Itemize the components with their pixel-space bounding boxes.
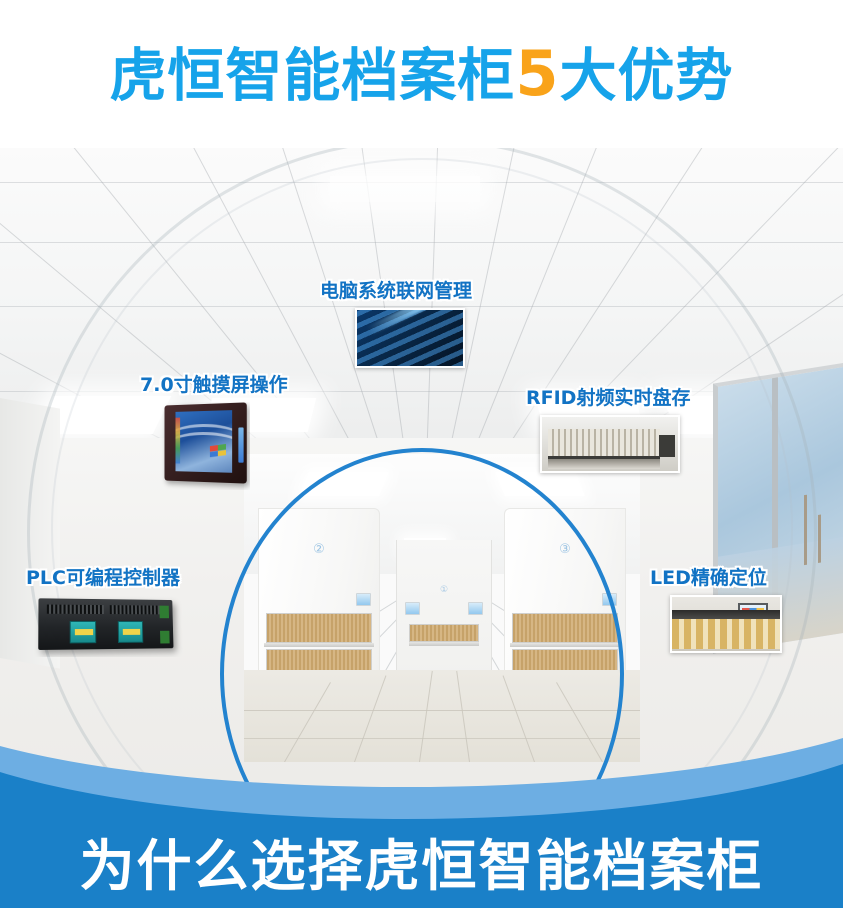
feature-label-led-positioning: LED精确定位 (650, 568, 782, 589)
feature-led-positioning[interactable]: LED精确定位 (650, 568, 782, 653)
page-title-band: 虎恒智能档案柜5大优势 (0, 0, 843, 148)
feature-plc-controller[interactable]: PLC可编程控制器 (26, 568, 184, 657)
feature-label-plc-controller: PLC可编程控制器 (26, 568, 184, 589)
cabinet-3-number: ③ (505, 541, 625, 557)
infographic-page: 虎恒智能档案柜5大优势 (0, 0, 843, 908)
archive-room-photo: ① ② ③ (244, 454, 640, 762)
thumb-keyboard-photo (355, 308, 465, 368)
page-title: 虎恒智能档案柜5大优势 (109, 43, 733, 105)
feature-label-rfid-inventory: RFID射频实时盘存 (526, 388, 690, 409)
feature-computer-network-management[interactable]: 电脑系统联网管理 (320, 281, 472, 368)
feature-label-touchscreen: 7.0寸触摸屏操作 (140, 375, 288, 396)
feature-rfid-inventory[interactable]: RFID射频实时盘存 (526, 388, 690, 473)
thumb-panel-pc-photo (158, 402, 250, 490)
room-scene: ① ② ③ (0, 148, 843, 820)
windows-logo-icon (210, 444, 226, 457)
page-title-highlight: 5 (515, 37, 559, 110)
feature-touchscreen[interactable]: 7.0寸触摸屏操作 (140, 375, 288, 490)
page-title-suffix: 大优势 (560, 43, 734, 109)
page-title-prefix: 虎恒智能档案柜 (109, 43, 515, 109)
thumb-plc-module-photo (34, 595, 184, 657)
thumb-led-shelf-photo (670, 595, 782, 653)
footer-banner-text: 为什么选择虎恒智能档案柜 (0, 839, 843, 894)
feature-label-computer-network-management: 电脑系统联网管理 (320, 281, 472, 302)
thumb-rfid-shelf-photo (540, 415, 680, 473)
cabinet-2-number: ② (259, 541, 379, 557)
